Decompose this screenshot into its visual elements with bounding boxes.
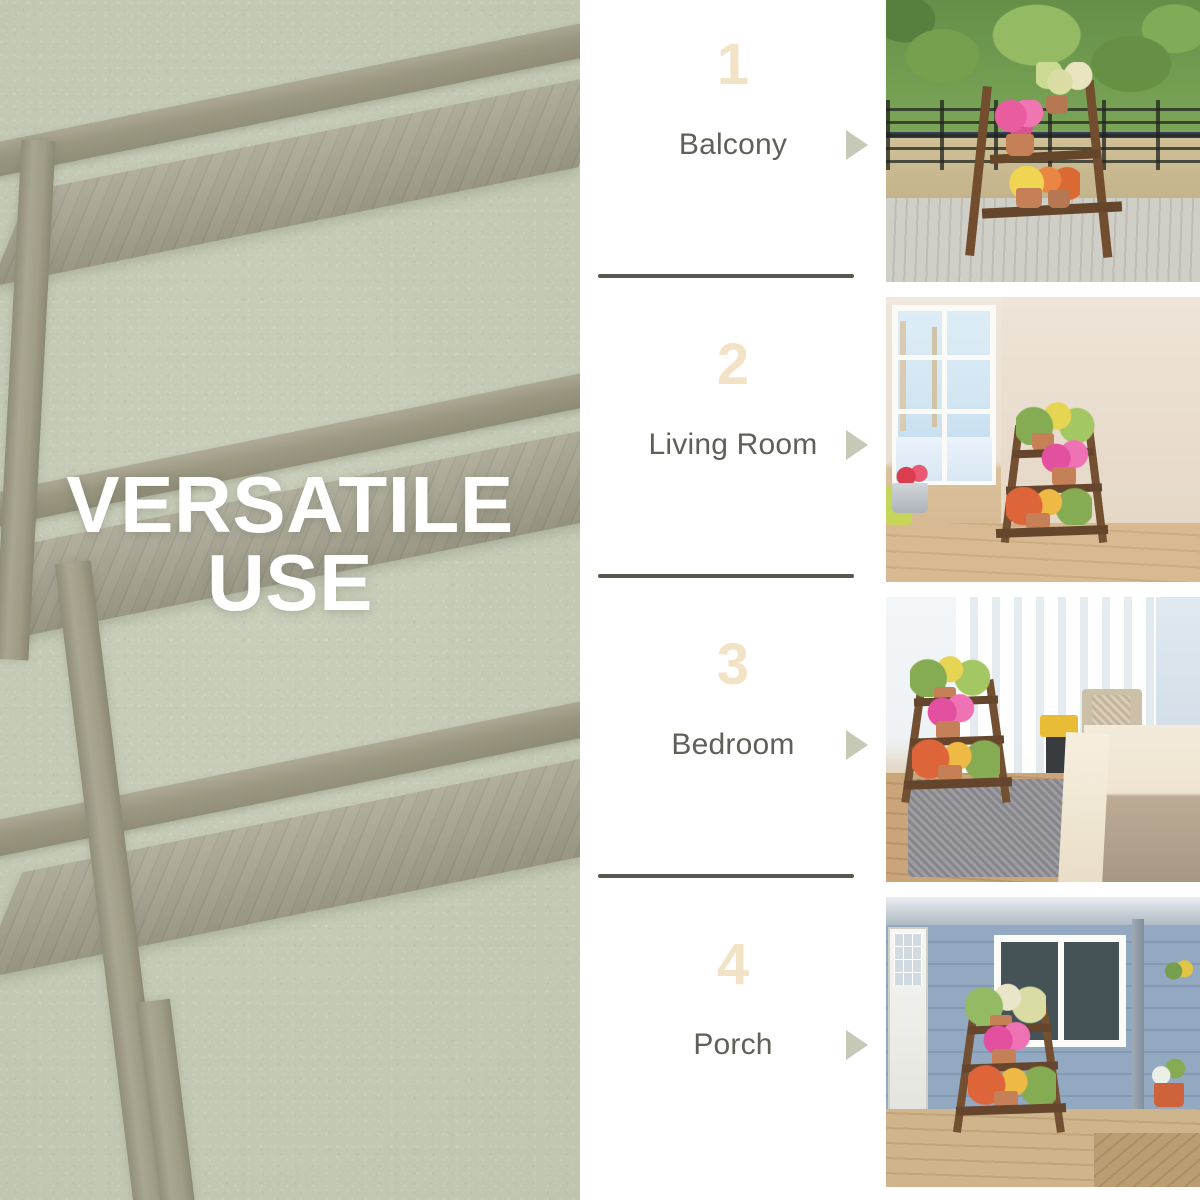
step-label-line: Living Room [580, 428, 886, 462]
step-row-living-room[interactable]: 2 Living Room [580, 300, 886, 600]
step-label: Living Room [649, 428, 818, 462]
step-row-bedroom[interactable]: 3 Bedroom [580, 600, 886, 900]
step-label-column: 1 Balcony 2 Living Room 3 Bedroom 4 [580, 0, 886, 1200]
photo-porch [886, 897, 1200, 1187]
triangle-right-icon [846, 130, 868, 160]
step-label-line: Porch [580, 1028, 886, 1062]
photo-overlay [886, 597, 1200, 882]
step-label: Porch [693, 1028, 772, 1062]
step-row-balcony[interactable]: 1 Balcony [580, 0, 886, 300]
photo-overlay [886, 297, 1200, 582]
hero-title: VERSATILE USE [0, 466, 580, 621]
step-label-line: Balcony [580, 128, 886, 162]
step-label: Balcony [679, 128, 787, 162]
step-row-porch[interactable]: 4 Porch [580, 900, 886, 1200]
step-label: Bedroom [671, 728, 794, 762]
photo-column [886, 0, 1200, 1200]
row-divider [598, 874, 854, 878]
photo-living-room [886, 297, 1200, 582]
step-number: 4 [717, 936, 749, 994]
step-label-line: Bedroom [580, 728, 886, 762]
step-number: 2 [717, 336, 749, 394]
hero-title-line-2: USE [0, 544, 580, 622]
triangle-right-icon [846, 430, 868, 460]
hero-title-line-1: VERSATILE [66, 460, 514, 549]
triangle-right-icon [846, 1030, 868, 1060]
step-number: 1 [717, 36, 749, 94]
versatile-use-infographic: VERSATILE USE 1 Balcony 2 Living Room 3 … [0, 0, 1200, 1200]
row-divider [598, 574, 854, 578]
row-divider [598, 274, 854, 278]
photo-overlay [886, 0, 1200, 282]
photo-balcony [886, 0, 1200, 282]
triangle-right-icon [846, 730, 868, 760]
step-number: 3 [717, 636, 749, 694]
photo-overlay [886, 897, 1200, 1187]
hero-panel: VERSATILE USE [0, 0, 580, 1200]
photo-bedroom [886, 597, 1200, 882]
